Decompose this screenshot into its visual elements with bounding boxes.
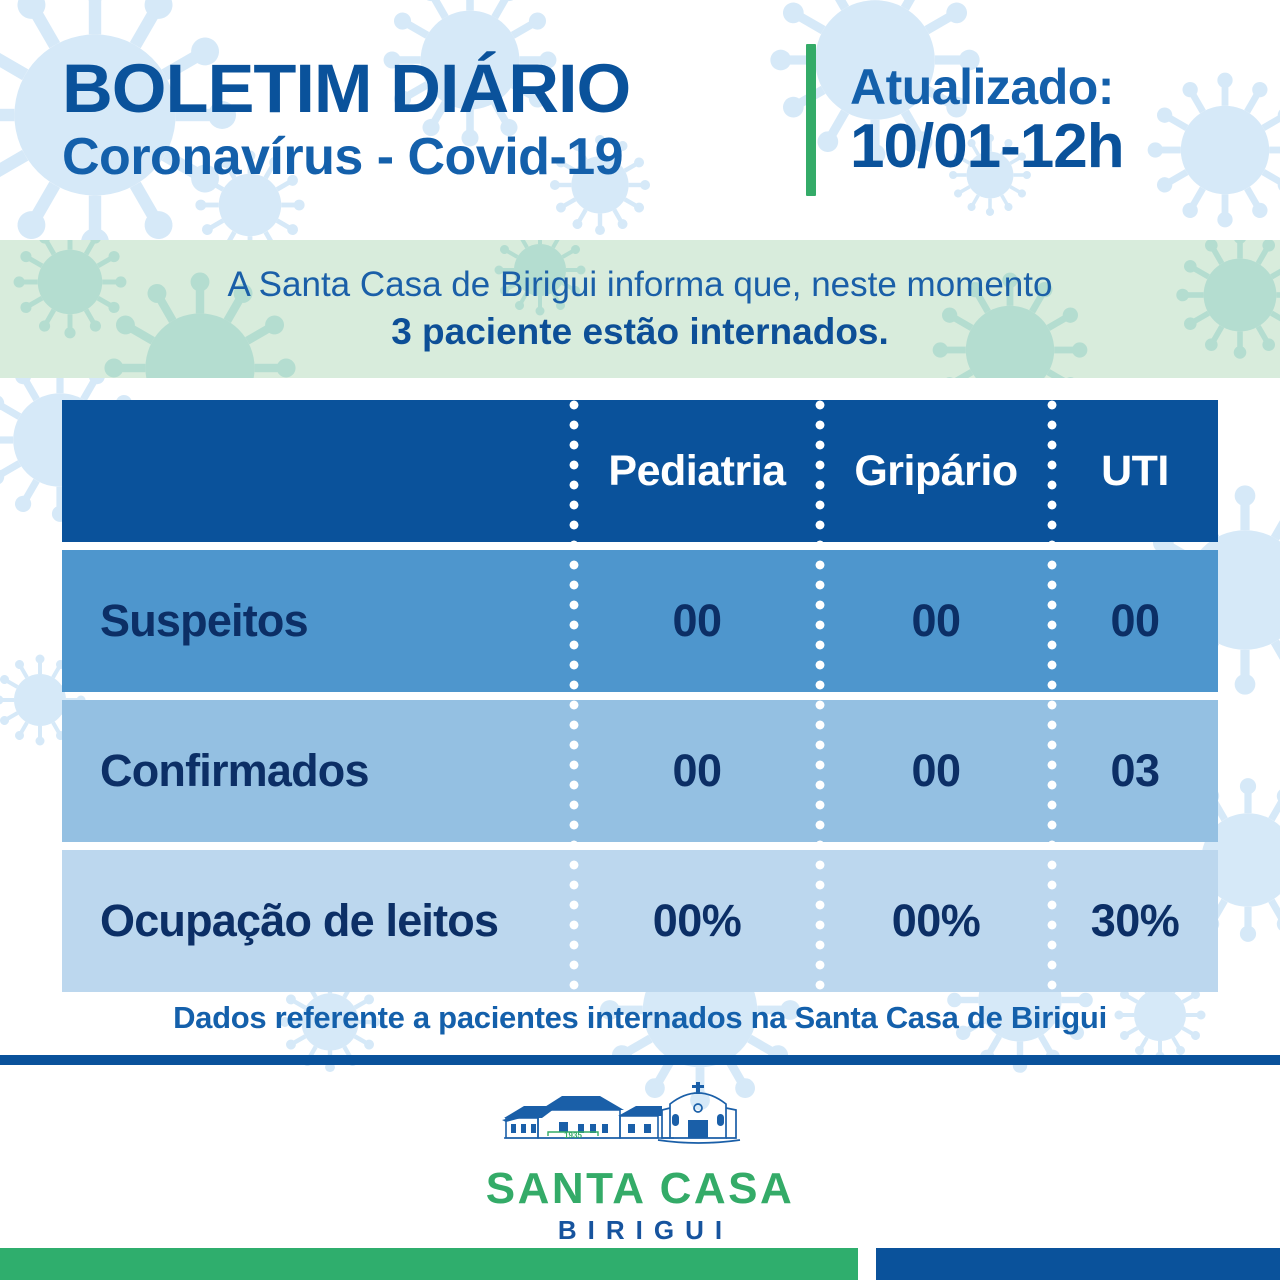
cell-value: 00% <box>892 895 981 947</box>
updated-label: Atualizado: <box>850 60 1124 114</box>
cell-suspeitos-gripario: 00 <box>820 550 1052 692</box>
column-header-pediatria: Pediatria <box>574 400 820 542</box>
header: BOLETIM DIÁRIO Coronavírus - Covid-19 At… <box>0 0 1280 240</box>
header-green-divider <box>806 44 816 196</box>
table-header-row: Pediatria Gripário UTI <box>62 400 1218 542</box>
bottom-color-bars <box>0 1248 1280 1280</box>
table-row: Ocupação de leitos 00% 00% 30% <box>62 850 1218 992</box>
cell-value: 03 <box>1110 745 1159 797</box>
cell-value: 00% <box>653 895 742 947</box>
cell-value: 00 <box>672 745 721 797</box>
column-header-label: UTI <box>1101 447 1169 496</box>
cell-suspeitos-uti: 00 <box>1052 550 1218 692</box>
cell-value: 30% <box>1091 895 1180 947</box>
row-label-cell: Ocupação de leitos <box>62 850 574 992</box>
column-header-label: Gripário <box>854 447 1017 496</box>
cell-value: 00 <box>1110 595 1159 647</box>
column-header-uti: UTI <box>1052 400 1218 542</box>
cell-value: 00 <box>911 745 960 797</box>
footnote: Dados referente a pacientes internados n… <box>0 1000 1280 1036</box>
updated-block: Atualizado: 10/01-12h <box>850 60 1124 180</box>
table-row: Confirmados 00 00 03 <box>62 700 1218 842</box>
logo: 1935 SANTA CASA BIRIGUI <box>0 1080 1280 1245</box>
table-row: Suspeitos 00 00 00 <box>62 550 1218 692</box>
row-label: Ocupação de leitos <box>100 895 498 947</box>
bottom-bar-blue <box>876 1248 1280 1280</box>
hospital-building-icon: 1935 <box>502 1080 778 1165</box>
logo-city: BIRIGUI <box>547 1217 733 1243</box>
row-label-cell: Confirmados <box>62 700 574 842</box>
cell-value: 00 <box>672 595 721 647</box>
cell-ocupacao-gripario: 00% <box>820 850 1052 992</box>
row-label: Confirmados <box>100 745 369 797</box>
section-divider-bar <box>0 1055 1280 1065</box>
bottom-bar-gap <box>858 1248 876 1280</box>
notice-banner: A Santa Casa de Birigui informa que, nes… <box>0 240 1280 378</box>
cell-confirmados-gripario: 00 <box>820 700 1052 842</box>
page-title: BOLETIM DIÁRIO <box>62 54 630 124</box>
table-corner-cell <box>62 400 574 542</box>
poster-root: BOLETIM DIÁRIO Coronavírus - Covid-19 At… <box>0 0 1280 1280</box>
row-label-cell: Suspeitos <box>62 550 574 692</box>
notice-line-2: 3 paciente estão internados. <box>391 309 889 355</box>
cell-confirmados-uti: 03 <box>1052 700 1218 842</box>
page-subtitle: Coronavírus - Covid-19 <box>62 129 623 186</box>
logo-year: 1935 <box>564 1131 582 1140</box>
column-header-label: Pediatria <box>608 447 785 496</box>
cell-ocupacao-uti: 30% <box>1052 850 1218 992</box>
header-title-block: BOLETIM DIÁRIO Coronavírus - Covid-19 <box>0 54 806 186</box>
logo-name: SANTA CASA <box>486 1167 795 1211</box>
notice-line-1: A Santa Casa de Birigui informa que, nes… <box>228 263 1053 307</box>
column-header-gripario: Gripário <box>820 400 1052 542</box>
cell-ocupacao-pediatria: 00% <box>574 850 820 992</box>
cell-value: 00 <box>911 595 960 647</box>
row-label: Suspeitos <box>100 595 308 647</box>
cell-suspeitos-pediatria: 00 <box>574 550 820 692</box>
stats-table: Pediatria Gripário UTI Suspeitos 00 00 0… <box>62 400 1218 992</box>
cell-confirmados-pediatria: 00 <box>574 700 820 842</box>
updated-value: 10/01-12h <box>850 114 1124 180</box>
bottom-bar-green <box>0 1248 858 1280</box>
